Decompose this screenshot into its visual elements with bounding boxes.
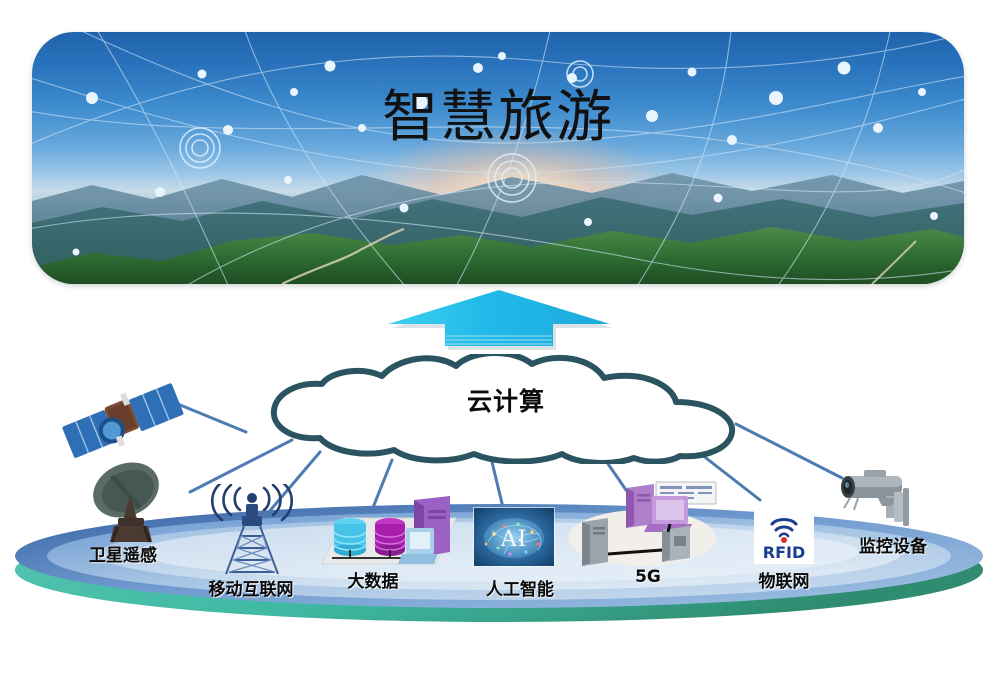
label-surveillance-equipment: 监控设备 [828,532,958,557]
svg-text:AI: AI [500,527,528,552]
satellite-icon [52,366,192,476]
cctv-camera-icon [834,466,938,532]
cell-tower-icon [204,484,300,576]
database-server-icon [318,492,458,574]
label-artificial-intelligence: 人工智能 [450,575,590,600]
rfid-icon: RFID [754,502,814,564]
cloud-label: 云计算 [266,382,746,418]
svg-text:RFID: RFID [763,543,805,562]
network-equipment-icon [564,480,734,570]
label-mobile-internet: 移动互联网 [176,575,326,600]
label-5g: 5G [608,567,688,587]
label-satellite-remote-sensing: 卫星遥感 [48,541,198,566]
satellite-dish-icon [78,462,186,548]
label-big-data: 大数据 [318,567,428,592]
rfid-tile: RFID [754,502,814,564]
ai-brain-icon: AI [474,508,554,566]
ai-brain-tile: AI [474,508,554,566]
diagram-canvas: 智慧旅游 [0,0,997,676]
label-internet-of-things: 物联网 [714,567,854,592]
